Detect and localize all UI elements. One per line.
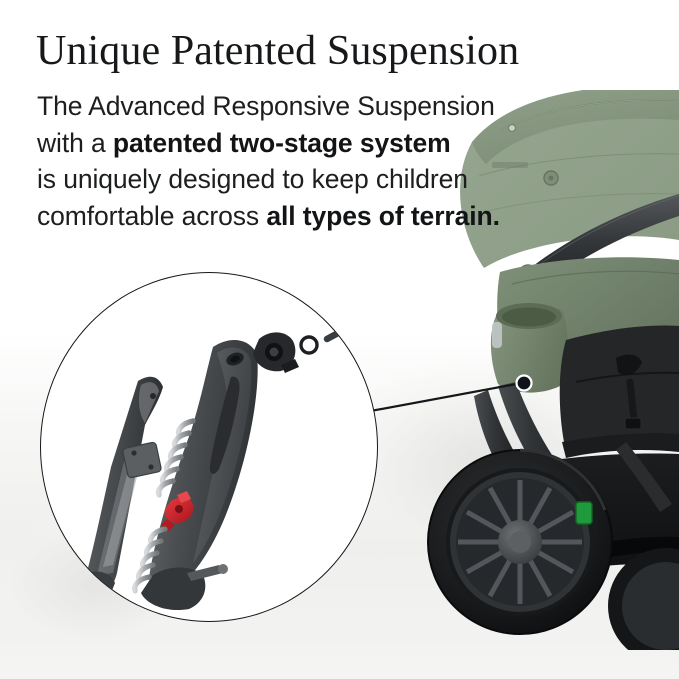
- brake-indicator: [576, 502, 592, 524]
- housing-foot: [81, 571, 115, 603]
- washer: [301, 337, 317, 353]
- housing-mount-plate: [122, 442, 161, 478]
- suspension-detail-inset: [40, 272, 378, 622]
- housing-pivot-hole: [150, 393, 156, 399]
- rear-wheel: [428, 450, 612, 634]
- body-line-4-text: comfortable across: [37, 201, 266, 231]
- frame-release-button: [492, 322, 502, 348]
- body-line-4: comfortable across all types of terrain.: [37, 198, 507, 235]
- body-line-1: The Advanced Responsive Suspension: [37, 88, 507, 125]
- harness-slider: [625, 418, 641, 429]
- body-line-2-text: with a: [37, 128, 113, 158]
- body-line-3-text: is uniquely designed to keep children: [37, 164, 468, 194]
- page-title: Unique Patented Suspension: [36, 26, 636, 76]
- exploded-suspension-art: [41, 273, 377, 621]
- harness-strap: [630, 382, 634, 420]
- body-line-2-emphasis: patented two-stage system: [113, 128, 451, 158]
- body-line-2: with a patented two-stage system: [37, 125, 507, 162]
- canopy-zipper-pull: [509, 125, 516, 132]
- pivot-bolt: [327, 313, 368, 339]
- seat-side-panel: [560, 326, 679, 442]
- body-copy: The Advanced Responsive Suspension with …: [37, 88, 507, 234]
- pivot-bracket: [253, 332, 299, 373]
- infographic-canvas: Unique Patented Suspension The Advanced …: [0, 0, 679, 679]
- body-line-1-text: The Advanced Responsive Suspension: [37, 91, 495, 121]
- body-line-3: is uniquely designed to keep children: [37, 161, 507, 198]
- body-line-4-emphasis: all types of terrain.: [266, 201, 500, 231]
